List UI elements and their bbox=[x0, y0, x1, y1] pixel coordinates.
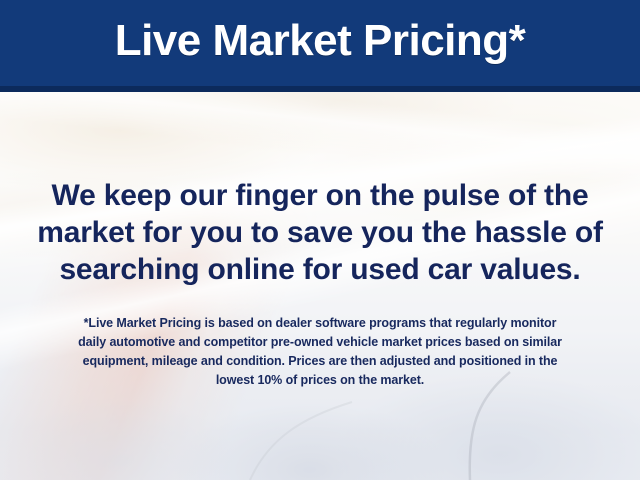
headline-line-1: We keep our finger on the pulse of the bbox=[28, 177, 612, 214]
headline: We keep our finger on the pulse of the m… bbox=[0, 92, 640, 288]
card-content: We keep our finger on the pulse of the m… bbox=[0, 92, 640, 390]
headline-line-3: searching online for used car values. bbox=[28, 251, 612, 288]
page-title: Live Market Pricing* bbox=[115, 19, 526, 67]
disclaimer-line-3: equipment, mileage and condition. Prices… bbox=[30, 352, 610, 371]
disclaimer-line-4: lowest 10% of prices on the market. bbox=[30, 371, 610, 390]
disclaimer-line-2: daily automotive and competitor pre-owne… bbox=[30, 333, 610, 352]
title-banner: Live Market Pricing* bbox=[0, 0, 640, 92]
live-market-pricing-card: Live Market Pricing* We keep our finger … bbox=[0, 0, 640, 480]
disclaimer-text: *Live Market Pricing is based on dealer … bbox=[0, 288, 640, 390]
disclaimer-line-1: *Live Market Pricing is based on dealer … bbox=[30, 314, 610, 333]
headline-line-2: market for you to save you the hassle of bbox=[28, 214, 612, 251]
